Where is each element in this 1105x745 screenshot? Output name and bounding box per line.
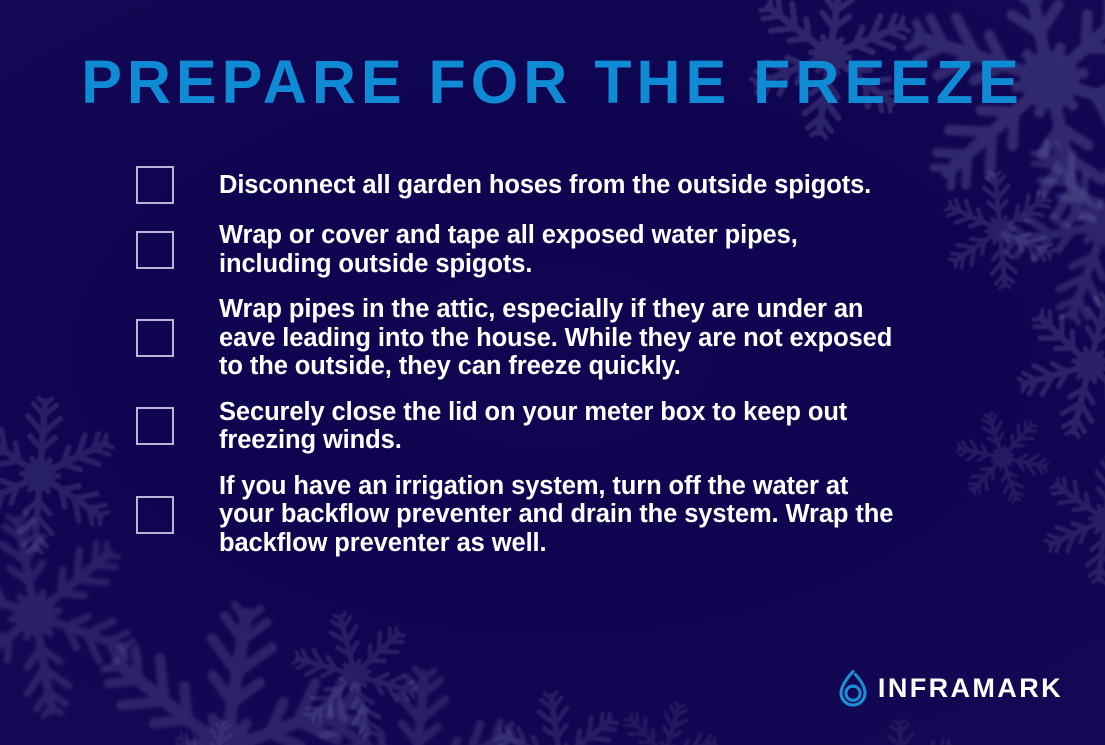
checkbox-item-3[interactable] (136, 319, 174, 357)
checkbox-item-4[interactable] (136, 407, 174, 445)
snowflake-icon (597, 687, 733, 745)
checklist: Disconnect all garden hoses from the out… (136, 166, 1016, 557)
list-item-label: If you have an irrigation system, turn o… (219, 472, 893, 558)
snowflake-icon (839, 712, 971, 745)
snowflake-icon (1034, 449, 1105, 592)
inframark-wordmark: INFRAMARK (878, 675, 1063, 702)
list-item-label: Wrap pipes in the attic, especially if t… (219, 295, 892, 381)
snowflake-icon (290, 655, 539, 745)
checkbox-item-1[interactable] (136, 166, 174, 204)
water-drop-icon (836, 669, 870, 707)
checkbox-item-2[interactable] (136, 231, 174, 269)
list-item-label: Disconnect all garden hoses from the out… (219, 171, 871, 200)
snowflake-icon (156, 709, 273, 745)
snowflake-icon (0, 390, 125, 561)
list-item[interactable]: If you have an irrigation system, turn o… (136, 472, 1016, 558)
list-item-label: Securely close the lid on your meter box… (219, 398, 847, 455)
snowflake-icon (481, 681, 639, 745)
list-item[interactable]: Wrap or cover and tape all exposed water… (136, 221, 1016, 278)
checkbox-item-5[interactable] (136, 496, 174, 534)
snowflake-icon (0, 493, 157, 736)
snowflake-icon (276, 596, 434, 745)
list-item-label: Wrap or cover and tape all exposed water… (219, 221, 798, 278)
poster-canvas: PREPARE FOR THE FREEZE Disconnect all ga… (0, 0, 1105, 745)
list-item[interactable]: Securely close the lid on your meter box… (136, 398, 1016, 455)
list-item[interactable]: Disconnect all garden hoses from the out… (136, 166, 1016, 204)
page-title: PREPARE FOR THE FREEZE (0, 52, 1105, 113)
list-item[interactable]: Wrap pipes in the attic, especially if t… (136, 295, 1016, 381)
snowflake-icon (53, 578, 396, 745)
inframark-logo: INFRAMARK (836, 669, 1063, 707)
